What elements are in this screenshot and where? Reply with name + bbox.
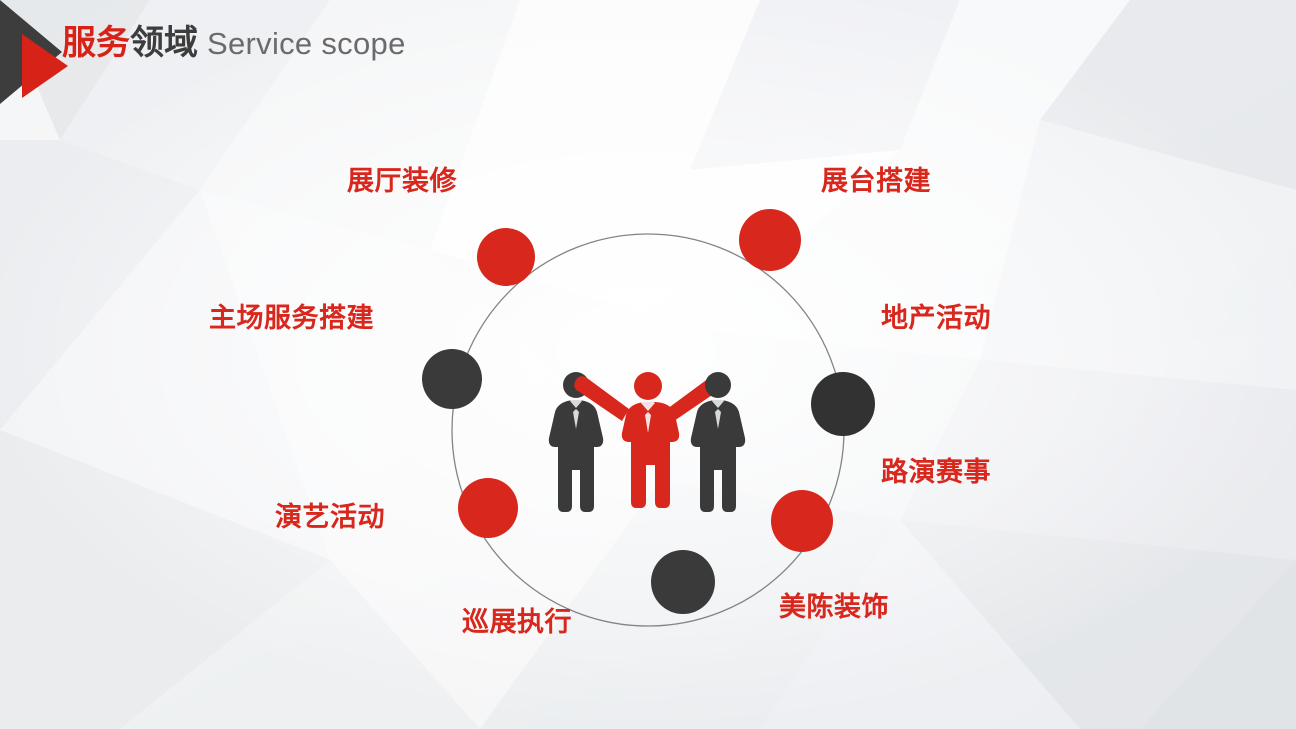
node-label-performing-arts[interactable]: 演艺活动 [275,504,385,531]
node-dot-exhibition-hall[interactable] [477,228,535,286]
node-dot-roadshow-events[interactable] [771,490,833,552]
node-label-roadshow-events[interactable]: 路演赛事 [881,459,991,486]
node-label-exhibition-hall[interactable]: 展厅装修 [347,168,457,195]
service-scope-diagram [0,0,1296,729]
node-dot-realestate-event[interactable] [811,372,875,436]
node-label-booth-build[interactable]: 展台搭建 [821,168,931,195]
slide-canvas: 服务领域Service scope [0,0,1296,729]
node-dot-performing-arts[interactable] [458,478,518,538]
node-label-venue-service[interactable]: 主场服务搭建 [209,305,374,332]
node-dot-booth-build[interactable] [739,209,801,271]
three-business-people-group [549,372,745,512]
node-dot-tour-exec[interactable] [651,550,715,614]
node-dot-venue-service[interactable] [422,349,482,409]
node-label-tour-exec[interactable]: 巡展执行 [462,609,572,636]
node-label-realestate-event[interactable]: 地产活动 [881,305,991,332]
node-label-decor-display[interactable]: 美陈装饰 [779,594,889,621]
